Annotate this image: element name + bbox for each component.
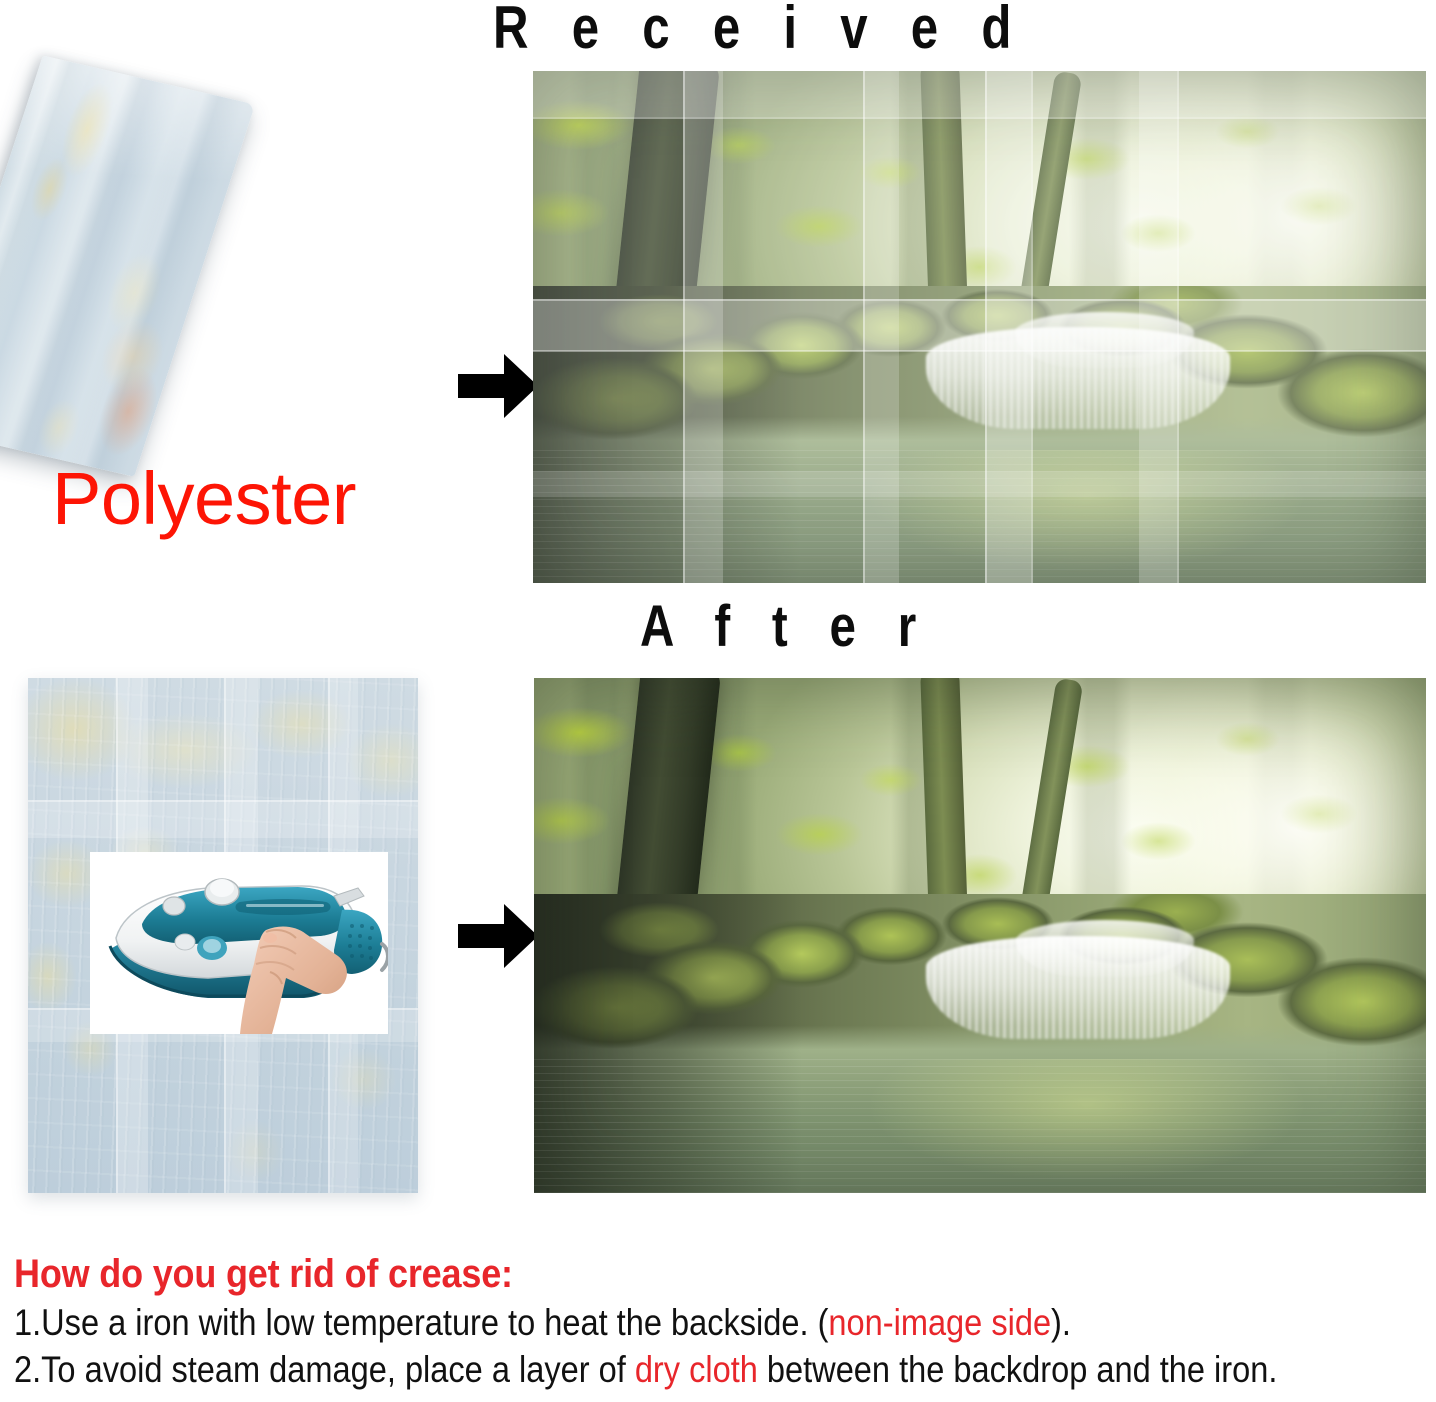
received-heading: R e c e i v e d	[493, 0, 1026, 58]
scene-vignette	[534, 678, 1426, 1193]
iron-spray-button	[163, 897, 185, 915]
instructions-heading: How do you get rid of crease:	[14, 1252, 1285, 1297]
step-2-text-after: between the backdrop and the iron.	[758, 1349, 1278, 1390]
received-backdrop-photo	[533, 71, 1426, 583]
instruction-step-1: 1.Use a iron with low temperature to hea…	[14, 1302, 1257, 1344]
right-arrow-icon	[456, 898, 540, 974]
right-arrow-icon	[456, 348, 540, 424]
step-1-highlight: non-image side	[828, 1302, 1051, 1343]
forest-stream-scene-smooth	[534, 678, 1426, 1193]
step-2-highlight: dry cloth	[635, 1349, 758, 1390]
step-1-text-before: 1.Use a iron with low temperature to hea…	[14, 1302, 828, 1343]
product-infographic: R e c e i v e d Polyester	[0, 0, 1436, 1402]
step-2-text-before: 2.To avoid steam damage, place a layer o…	[14, 1349, 635, 1390]
iron-water-cap	[175, 934, 195, 950]
forest-stream-scene-creased	[533, 71, 1426, 583]
polyester-material-label: Polyester	[52, 462, 356, 536]
folded-fabric-roll	[0, 55, 255, 476]
scene-vignette	[533, 71, 1426, 583]
after-backdrop-photo	[534, 678, 1426, 1193]
instruction-step-2: 2.To avoid steam damage, place a layer o…	[14, 1349, 1257, 1391]
step-1-text-after: ).	[1051, 1302, 1071, 1343]
after-heading: A f t e r	[640, 598, 930, 656]
iron-steam-knob	[205, 879, 239, 905]
iron-power-cord	[382, 944, 388, 970]
ironing-demo-photo	[90, 852, 388, 1034]
care-instructions: How do you get rid of crease: 1.Use a ir…	[14, 1252, 1426, 1391]
folded-backdrop-photo	[12, 74, 432, 504]
iron-temperature-dial	[197, 936, 227, 960]
